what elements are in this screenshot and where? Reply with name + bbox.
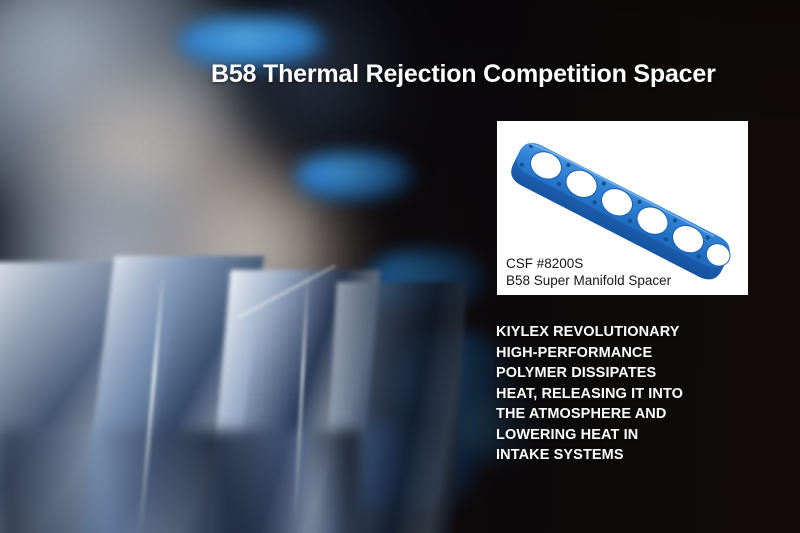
product-name: B58 Super Manifold Spacer (506, 272, 671, 289)
body-copy-line: HEAT, RELEASING IT INTO (496, 384, 736, 405)
body-copy-line: THE ATMOSPHERE AND (496, 404, 736, 425)
product-card: CSF #8200S B58 Super Manifold Spacer (497, 121, 748, 295)
part-number: CSF #8200S (506, 255, 671, 272)
body-copy-line: HIGH-PERFORMANCE (496, 343, 736, 364)
body-copy-line: KIYLEX REVOLUTIONARY (496, 322, 736, 343)
body-copy-line: INTAKE SYSTEMS (496, 445, 736, 466)
body-copy: KIYLEX REVOLUTIONARY HIGH-PERFORMANCE PO… (496, 322, 736, 466)
banner-title: B58 Thermal Rejection Competition Spacer (211, 60, 716, 89)
body-copy-line: POLYMER DISSIPATES (496, 363, 736, 384)
product-banner: B58 Thermal Rejection Competition Spacer (0, 0, 800, 533)
product-caption: CSF #8200S B58 Super Manifold Spacer (506, 255, 671, 289)
body-copy-line: LOWERING HEAT IN (496, 425, 736, 446)
